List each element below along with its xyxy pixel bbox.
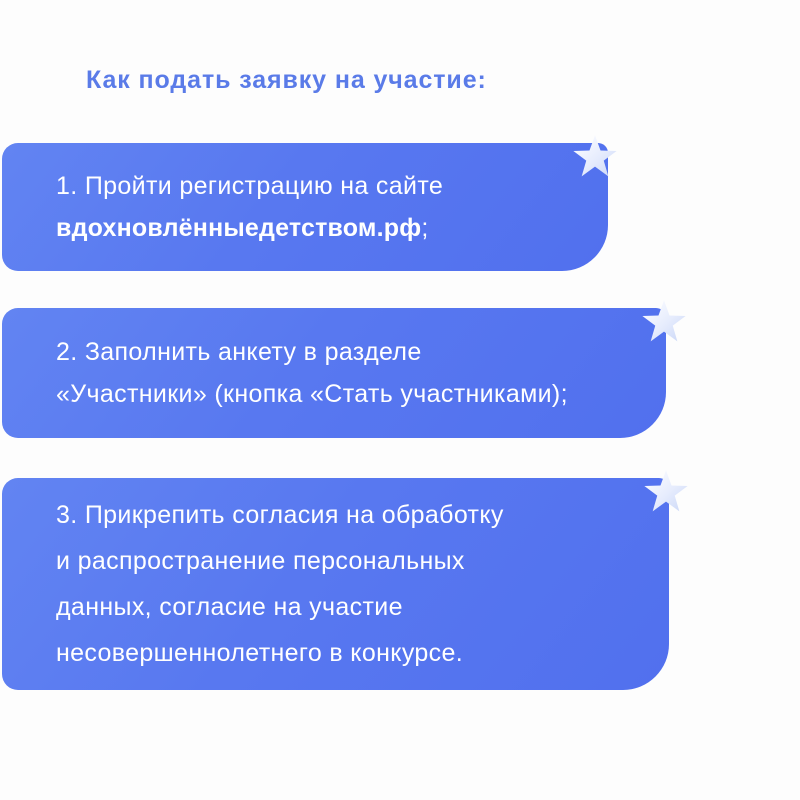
step-3-line-2: и распространение персональных [56, 538, 669, 584]
step-2-line-1: 2. Заполнить анкету в разделе [56, 331, 666, 373]
poster-canvas: Как подать заявку на участие: 1. Пройти … [0, 0, 800, 800]
step-3-line-3: данных, согласие на участие [56, 584, 669, 630]
step-1-line-1: 1. Пройти регистрацию на сайте [56, 165, 608, 207]
step-1-site-url: вдохновлённыедетством.рф [56, 214, 421, 242]
step-card-3: 3. Прикрепить согласия на обработку и ра… [2, 478, 669, 690]
step-3-line-1: 3. Прикрепить согласия на обработку [56, 492, 669, 538]
step-card-2: 2. Заполнить анкету в разделе «Участники… [2, 308, 666, 438]
step-2-line-2: «Участники» (кнопка «Стать участниками); [56, 373, 666, 415]
page-title: Как подать заявку на участие: [86, 66, 487, 95]
step-3-line-4: несовершеннолетнего в конкурсе. [56, 630, 669, 676]
step-card-1: 1. Пройти регистрацию на сайте вдохновлё… [2, 143, 608, 271]
step-1-line-2: вдохновлённыедетством.рф; [56, 207, 608, 249]
step-1-line-2-punctuation: ; [421, 214, 428, 242]
